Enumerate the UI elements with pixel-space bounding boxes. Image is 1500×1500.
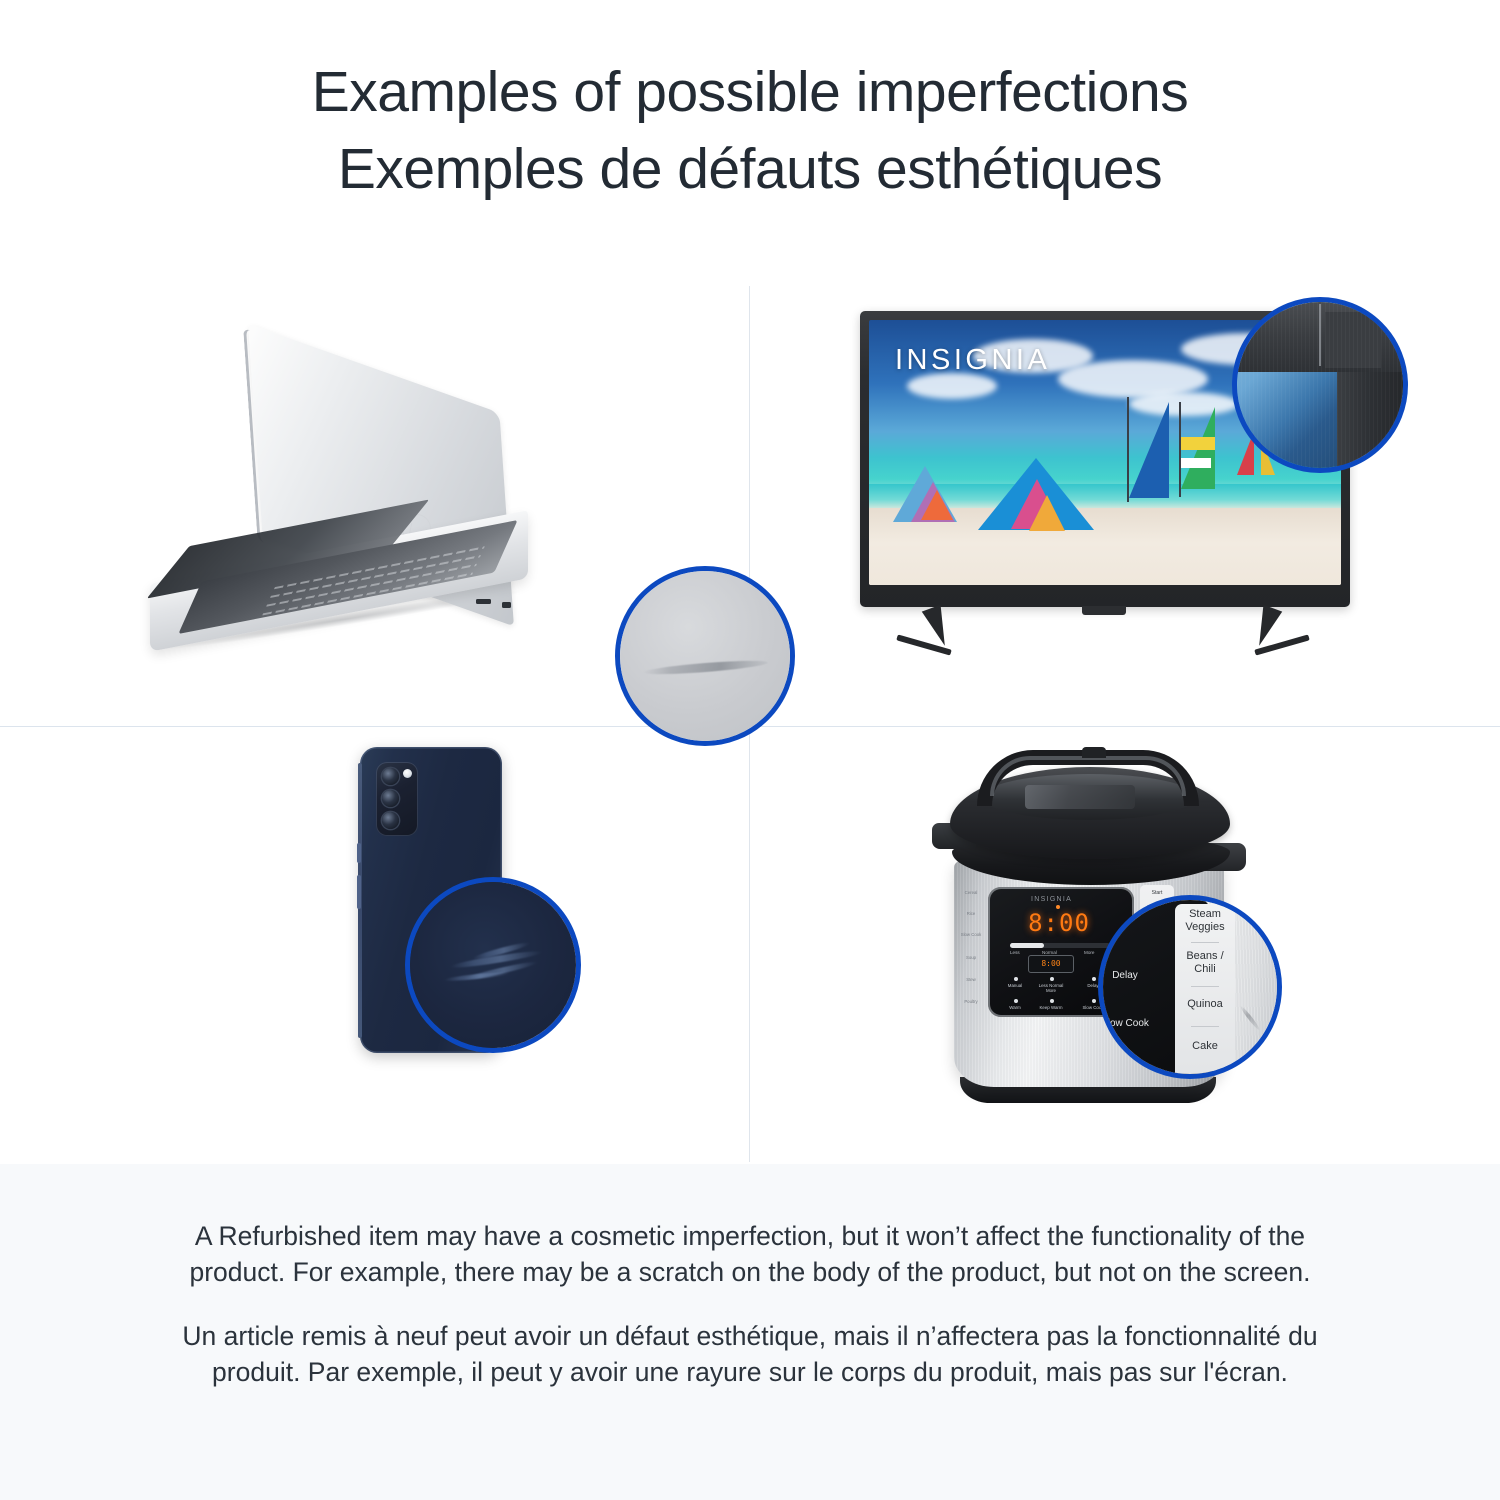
cooker-left-button-column: Cereal Rice Slow Cook Soup Stew Poultry	[958, 890, 984, 1014]
cooker-slider-fill	[1010, 943, 1044, 948]
cooker-pressure-valve	[1082, 747, 1106, 758]
panel-smartphone	[0, 727, 749, 1162]
laptop-usbc-port-2	[502, 602, 511, 608]
cooker-left-button-cereal[interactable]: Cereal	[958, 890, 984, 895]
cooker-magnified-buttons: Steam Veggies Beans / Chili Quinoa Cake	[1175, 904, 1235, 1079]
cooker-pressure-slider[interactable]	[1010, 943, 1110, 948]
cooker-left-button-slowcook[interactable]: Slow Cook	[958, 932, 984, 937]
panel-pressure-cooker: INSIGNIA 8:00 Less Normal More 8:00	[750, 727, 1500, 1162]
cooker-magnified-button-quinoa[interactable]: Quinoa	[1175, 998, 1235, 1011]
cooker-button-warm[interactable]: Warm	[1002, 1005, 1028, 1010]
cooker-secondary-display-value: 8:00	[1029, 959, 1073, 968]
cooker-button-start[interactable]: Start	[1142, 890, 1172, 896]
cooker-magnified-label-slowcook: Slow Cook	[1098, 1018, 1153, 1029]
panel-television: INSIGNIA	[750, 286, 1500, 726]
panel-laptop	[0, 286, 749, 726]
phone-camera-lens-3	[382, 812, 399, 829]
phone-magnifier-circle	[405, 877, 581, 1053]
tv-ir-receiver	[1082, 606, 1126, 615]
caption-french: Un article remis à neuf peut avoir un dé…	[170, 1318, 1330, 1390]
phone-camera-lens-2	[382, 790, 399, 807]
cooker-secondary-display: 8:00	[1028, 955, 1074, 973]
cooker-left-button-poultry[interactable]: Poultry	[958, 999, 984, 1004]
phone-magnified-surface	[410, 882, 576, 1048]
phone-volume-button	[357, 843, 361, 863]
cooker-button-mode[interactable]: Less Normal More	[1038, 983, 1064, 994]
phone-power-button	[357, 875, 361, 909]
cooker-magnified-button-beans[interactable]: Beans / Chili	[1175, 950, 1235, 976]
tv-brand-logo: INSIGNIA	[895, 344, 1050, 377]
cooker-left-button-soup[interactable]: Soup	[958, 955, 984, 960]
laptop-usbc-port-1	[476, 599, 491, 604]
laptop-illustration	[150, 371, 570, 661]
cooker-left-button-rice[interactable]: Rice	[958, 911, 984, 916]
laptop-magnified-surface	[620, 571, 790, 741]
tv-illustration: INSIGNIA	[860, 311, 1370, 671]
cooker-magnified-label-delay: Delay	[1098, 970, 1153, 981]
cooker-button-keep-warm[interactable]: Keep Warm	[1038, 1005, 1064, 1010]
tv-bezel-texture	[1237, 302, 1403, 468]
refurbished-imperfections-infographic: Examples of possible imperfections Exemp…	[0, 0, 1500, 1500]
cooker-button-manual[interactable]: Manual	[1002, 983, 1028, 988]
cooker-lid-handle-highlight	[990, 756, 1186, 796]
caption-english: A Refurbished item may have a cosmetic i…	[170, 1218, 1330, 1290]
cooker-magnifier-circle: Delay Slow Cook Steam Veggies Beans / Ch…	[1098, 895, 1282, 1079]
cooker-slider-label-more: More	[1084, 950, 1094, 955]
page-title: Examples of possible imperfections Exemp…	[0, 54, 1500, 208]
product-examples-grid: INSIGNIA	[0, 286, 1500, 1162]
caption-section: A Refurbished item may have a cosmetic i…	[0, 1164, 1500, 1500]
laptop-magnifier-circle	[615, 566, 795, 746]
cooker-brand-logo: INSIGNIA	[1031, 896, 1072, 903]
phone-camera-lens-1	[382, 768, 399, 785]
cooker-digital-display: 8:00	[1020, 910, 1098, 936]
title-french: Exemples de défauts esthétiques	[0, 131, 1500, 208]
tv-magnifier-circle	[1232, 297, 1408, 473]
cooker-slider-label-less: Less	[1010, 950, 1020, 955]
cooker-illustration: INSIGNIA 8:00 Less Normal More 8:00	[930, 747, 1320, 1137]
cooker-left-button-stew[interactable]: Stew	[958, 977, 984, 982]
phone-illustration	[295, 747, 585, 1127]
phone-camera-module	[376, 762, 418, 836]
cooker-magnified-button-steam[interactable]: Steam Veggies	[1175, 908, 1235, 934]
phone-camera-flash-icon	[403, 769, 412, 778]
cooker-magnified-button-cake[interactable]: Cake	[1175, 1040, 1235, 1053]
title-english: Examples of possible imperfections	[0, 54, 1500, 131]
